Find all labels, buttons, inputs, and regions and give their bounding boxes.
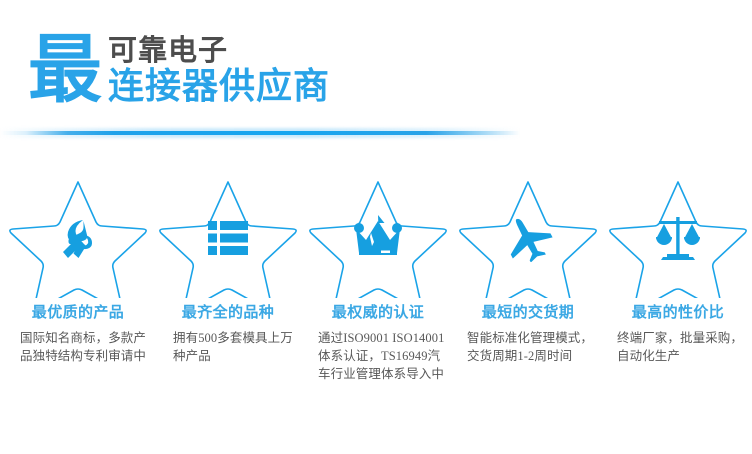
airplane-icon xyxy=(503,214,553,267)
feature-title-1: 最优质的产品 xyxy=(3,304,153,322)
feature-desc-4: 智能标准化管理模式，交货周期1-2周时间 xyxy=(453,330,603,366)
feature-item-4: 最短的交货期 智能标准化管理模式，交货周期1-2周时间 xyxy=(453,176,603,383)
feature-desc-2: 拥有500多套模具上万种产品 xyxy=(153,330,303,366)
promo-banner: 最 可靠电子 连接器供应商 xyxy=(0,0,752,454)
divider-core xyxy=(0,131,520,135)
headline-lines: 可靠电子 连接器供应商 xyxy=(108,34,330,105)
feature-title-5: 最高的性价比 xyxy=(603,304,752,322)
feature-item-2: 最齐全的品种 拥有500多套模具上万种产品 xyxy=(153,176,303,383)
balance-scales-icon xyxy=(655,215,701,266)
feature-desc-5: 终端厂家，批量采购，自动化生产 xyxy=(603,330,752,366)
feature-star-4 xyxy=(453,176,603,298)
feature-item-3: 最权威的认证 通过ISO9001 ISO14001体系认证，TS16949汽车行… xyxy=(303,176,453,383)
feature-star-1 xyxy=(3,176,153,298)
medal-ribbon-icon xyxy=(53,213,103,268)
feature-item-5: 最高的性价比 终端厂家，批量采购，自动化生产 xyxy=(603,176,752,383)
feature-title-4: 最短的交货期 xyxy=(453,304,603,322)
list-grid-icon xyxy=(207,220,249,261)
feature-star-3 xyxy=(303,176,453,298)
feature-title-3: 最权威的认证 xyxy=(303,304,453,322)
headline-line-bottom: 连接器供应商 xyxy=(108,68,330,105)
feature-item-1: 最优质的产品 国际知名商标，多款产品独特结构专利审请中 xyxy=(3,176,153,383)
feature-desc-1: 国际知名商标，多款产品独特结构专利审请中 xyxy=(3,330,153,366)
feature-title-2: 最齐全的品种 xyxy=(153,304,303,322)
header-block: 最 可靠电子 连接器供应商 xyxy=(28,34,498,134)
headline-big-character: 最 xyxy=(28,34,102,105)
feature-list: 最优质的产品 国际知名商标，多款产品独特结构专利审请中 xyxy=(0,176,752,383)
feature-star-5 xyxy=(603,176,752,298)
header-inner: 最 可靠电子 连接器供应商 xyxy=(28,34,498,105)
header-divider xyxy=(0,128,520,138)
feature-star-2 xyxy=(153,176,303,298)
headline-line-top: 可靠电子 xyxy=(108,36,330,66)
feature-desc-3: 通过ISO9001 ISO14001体系认证，TS16949汽车行业管理体系导入… xyxy=(303,330,453,383)
crown-icon xyxy=(353,215,403,266)
